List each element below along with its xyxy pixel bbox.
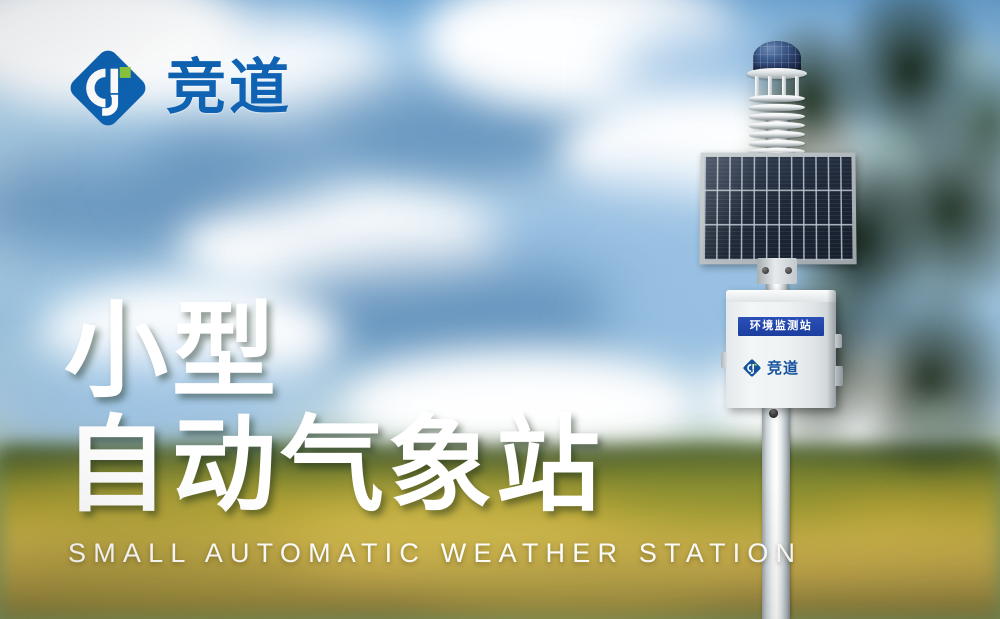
product-banner: 环境监测站 竞道 竞道 (0, 0, 1000, 619)
headline-line-2: 自动气象站 (64, 414, 604, 518)
brand-logo[interactable]: 竞道 (66, 46, 292, 130)
enclosure-label-band: 环境监测站 (738, 317, 824, 336)
solar-panel-bracket (757, 258, 797, 284)
enclosure-brand-logo: 竞道 (742, 358, 799, 378)
headline-line-1: 小型 (64, 300, 604, 404)
mounting-mast-lower (762, 400, 790, 619)
enclosure-latch-lower (835, 366, 843, 386)
headline-block: 小型 自动气象站 (64, 300, 604, 518)
solar-panel (699, 153, 856, 265)
ultrasonic-sensor-dome-icon (753, 41, 801, 71)
enclosure-brand-name: 竞道 (767, 361, 799, 376)
enclosure-hinge-left (721, 352, 727, 368)
radiation-shield (749, 95, 805, 155)
enclosure-label-text: 环境监测站 (750, 321, 813, 332)
enclosure-bottom-bolt (770, 409, 778, 417)
enclosure-latch-upper (835, 334, 842, 348)
jingdao-diamond-logo-icon (66, 46, 150, 130)
brand-name: 竞道 (166, 58, 292, 118)
jingdao-diamond-logo-icon (742, 358, 762, 378)
headline-subtitle: SMALL AUTOMATIC WEATHER STATION (68, 538, 802, 569)
data-logger-enclosure: 环境监测站 竞道 (726, 290, 836, 408)
